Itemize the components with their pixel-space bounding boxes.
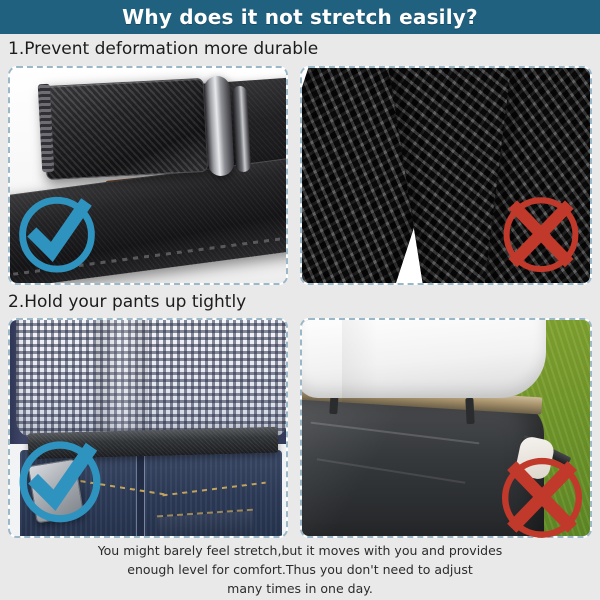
footer-caption: You might barely feel stretch,but it mov… — [0, 538, 600, 600]
section-2-text: 2.Hold your pants up tightly — [0, 292, 246, 312]
panel-top-left — [8, 66, 288, 285]
section-label-1: 1.Prevent deformation more durable — [0, 34, 600, 64]
caption-line-1: You might barely feel stretch,but it mov… — [98, 541, 503, 560]
belt-chrome-loop — [203, 75, 234, 176]
panel-bottom-right — [300, 318, 592, 538]
sagging-pants — [302, 400, 544, 536]
white-shirt — [302, 320, 546, 398]
checkered-shirt — [16, 320, 286, 438]
caption-line-2: enough level for comfort.Thus you don't … — [127, 560, 473, 579]
section-1-text: 1.Prevent deformation more durable — [0, 39, 318, 59]
panel-bottom-right-photo — [302, 320, 590, 536]
section-label-2: 2.Hold your pants up tightly — [0, 287, 600, 317]
phone-in-pocket — [28, 459, 84, 524]
panel-top-left-photo — [10, 68, 286, 283]
panel-top-right — [300, 66, 592, 285]
panel-bottom-left-photo — [10, 320, 286, 536]
shirt-fold — [96, 320, 148, 438]
belt-loop-right — [465, 398, 474, 424]
belt-buckle-plate — [42, 78, 209, 180]
caption-line-3: many times in one day. — [227, 579, 373, 598]
panel-top-right-photo — [302, 68, 590, 283]
panel-bottom-left — [8, 318, 288, 538]
header-bar: Why does it not stretch easily? — [0, 0, 600, 34]
page-title: Why does it not stretch easily? — [122, 5, 478, 29]
